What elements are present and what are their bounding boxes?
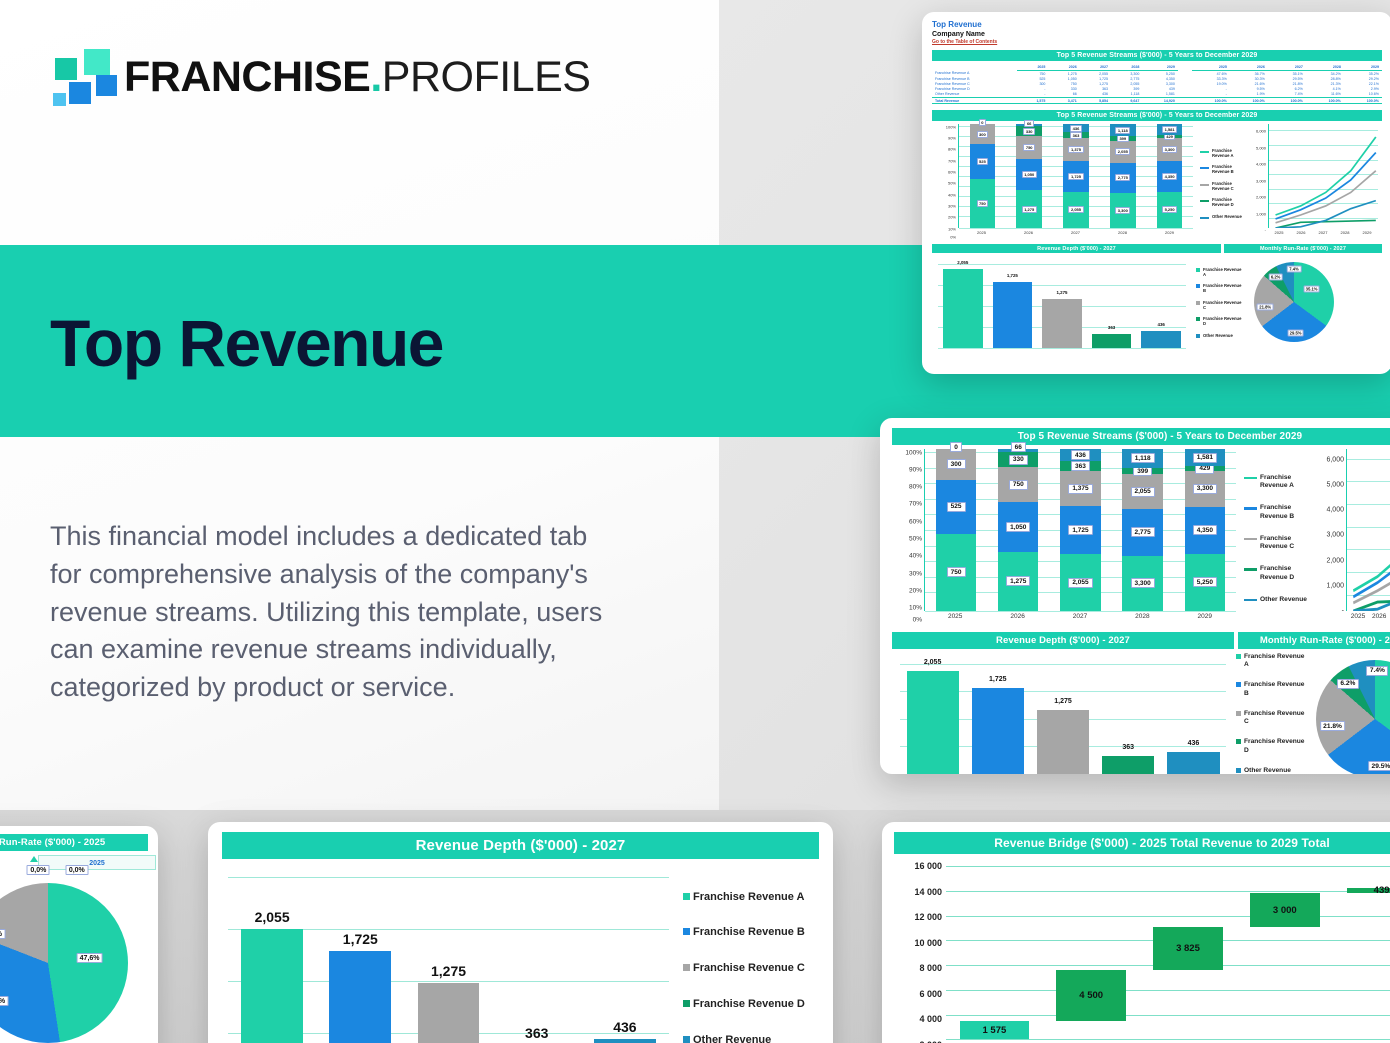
year-tab-label[interactable]: 2025 [39, 856, 155, 871]
depth-title-banner-mid: Revenue Depth ($'000) - 2027 [892, 632, 1234, 649]
waterfall-y-axis: 16 000 14 000 12 000 10 000 8 000 6 000 … [894, 862, 946, 1043]
stacked-chart-legend-mid: Franchise Revenue A Franchise Revenue B … [1244, 469, 1314, 609]
table-title-banner: Top 5 Revenue Streams ($'000) - 5 Years … [932, 50, 1382, 61]
stacked-chart-title-banner: Top 5 Revenue Streams ($'000) - 5 Years … [932, 110, 1382, 121]
legend-swatch-c [1244, 538, 1257, 541]
legend-swatch-other [1200, 217, 1209, 219]
stack-2028: 3,300 2,775 2,055 399 1,118 [1122, 449, 1162, 611]
waterfall-col-c: 3 000 [1236, 862, 1333, 1043]
legend-label-b: Franchise Revenue B [1212, 164, 1248, 175]
screenshot-card-charts: Top 5 Revenue Streams ($'000) - 5 Years … [880, 418, 1390, 774]
revenue-depth-legend-mid: Franchise Revenue A Franchise Revenue B … [1236, 654, 1308, 774]
line-chart-y-axis: 6,0005,0004,000 3,0002,0001,000 - [1248, 124, 1268, 242]
legend-swatch-other [1196, 334, 1200, 338]
runrate-title-banner: Monthly Run-Rate ($'000) - 2027 [1224, 244, 1382, 253]
legend-label-other: Other Revenue [1212, 214, 1242, 219]
legend-swatch-a [1244, 477, 1257, 480]
line-chart-x-axis: 20252026 20272028 2029 [1268, 230, 1378, 242]
brand-logo: FRANCHISE.PROFILES [48, 46, 590, 108]
legend-swatch-b [683, 928, 690, 935]
legend-swatch-b [1244, 507, 1257, 510]
stack-2025: 750 525 300 0 [936, 449, 976, 611]
revenue-table-body: Franchise Revenue A 750 1,275 2,055 3,30… [932, 71, 1382, 104]
screenshot-card-revenue-depth: Revenue Depth ($'000) - 2027 2,055 1,725… [208, 822, 833, 1043]
legend-swatch-a [683, 893, 690, 900]
screenshot-card-runrate-pie: y Run-Rate ($'000) - 2025 2025 47,6% 33,… [0, 826, 158, 1043]
revenue-depth-bar-chart-mid: 2,055 1,725 1,275 363 436 [900, 654, 1230, 774]
revenue-depth-legend-big: Franchise Revenue A Franchise Revenue B … [683, 869, 813, 1043]
revenue-depth-bar-chart-big: 2,055 1,725 1,275 363 436 [228, 869, 673, 1043]
legend-swatch-a [1236, 654, 1241, 659]
waterfall-col-b: 3 825 [1140, 862, 1237, 1043]
squares-logo-icon [48, 46, 110, 108]
brand-name-bold: FRANCHISE [124, 53, 370, 101]
sheet-title: Top Revenue [932, 20, 1382, 30]
waterfall-col-base: 1 575 [946, 862, 1043, 1043]
stack-2028: 3,300 2,775 2,055 399 1,118 [1110, 124, 1136, 228]
legend-swatch-d [1196, 317, 1200, 321]
table-row-total: Total Revenue 1,575 3,471 5,854 9,647 14… [932, 98, 1382, 104]
stacked-chart-x-axis-mid: 2025 2026 2027 2028 2029 [924, 613, 1236, 629]
depth-title-banner: Revenue Depth ($'000) - 2027 [932, 244, 1221, 253]
legend-swatch-other [1244, 599, 1257, 602]
runrate-pie-chart: 35.1% 29.5% 21.8% 6.2% 7.4% [1254, 262, 1334, 342]
legend-swatch-other [1236, 768, 1241, 773]
legend-swatch-c [683, 964, 690, 971]
waterfall-plot: 1 575 4 500 3 825 3 000 439 [946, 862, 1390, 1043]
stacked-chart-legend: Franchise Revenue A Franchise Revenue B … [1200, 130, 1248, 236]
stacked-bar-chart: 100%90%80% 70%60%50% 40%30%20% 10%0% 750 [932, 124, 1197, 242]
line-chart: 6,0005,0004,000 3,0002,0001,000 - [1248, 124, 1382, 242]
stack-2026: 1,275 1,050 750 330 66 [998, 449, 1038, 611]
revenue-table: 2025 2026 2027 2028 2029 2025 2026 2027 … [932, 64, 1382, 104]
legend-swatch-a [1196, 268, 1200, 272]
line-chart-mid: 6,0005,000 4,0003,000 2,0001,000 - [1316, 449, 1390, 629]
legend-swatch-d [1244, 568, 1257, 571]
legend-label-d: Franchise Revenue D [1212, 197, 1248, 208]
legend-swatch-a [1200, 151, 1209, 153]
revenue-bridge-title-banner: Revenue Bridge ($'000) - 2025 Total Reve… [894, 832, 1390, 854]
screenshot-card-revenue-bridge: Revenue Bridge ($'000) - 2025 Total Reve… [882, 822, 1390, 1043]
stacked-chart-x-axis: 20252026 20272028 2029 [958, 230, 1193, 242]
legend-swatch-d [683, 1000, 690, 1007]
marker-icon [30, 856, 38, 862]
brand-name-light: PROFILES [382, 53, 591, 101]
runrate-2025-pie: 47,6% 33,3% 19,0% 0,0% 0,0% [0, 883, 128, 1043]
stacked-chart-title-banner-mid: Top 5 Revenue Streams ($'000) - 5 Years … [892, 428, 1390, 445]
stacked-bar-chart-mid: 100%90%80% 70%60%50% 40%30%20% 10%0% 750 [892, 449, 1240, 629]
brand-wordmark: FRANCHISE.PROFILES [124, 56, 590, 99]
toc-link[interactable]: Go to the Table of Contents [932, 39, 1382, 45]
legend-label-c: Franchise Revenue C [1212, 181, 1248, 192]
waterfall-col-d: 439 [1333, 862, 1390, 1043]
legend-swatch-b [1200, 167, 1209, 169]
legend-swatch-c [1200, 184, 1209, 186]
line-chart-x-axis-mid: 20252026 20272028 2029 [1346, 613, 1390, 629]
revenue-depth-title-banner: Revenue Depth ($'000) - 2027 [222, 832, 819, 859]
stack-2029: 5,250 4,350 3,300 429 1,581 [1157, 124, 1183, 228]
legend-swatch-d [1200, 200, 1209, 202]
stack-2027: 2,055 1,725 1,375 363 436 [1063, 124, 1089, 228]
page-title: Top Revenue [50, 305, 443, 381]
legend-label-a: Franchise Revenue A [1212, 148, 1248, 159]
line-chart-y-axis-mid: 6,0005,000 4,0003,000 2,0001,000 - [1316, 449, 1346, 629]
legend-swatch-c [1236, 711, 1241, 716]
company-name: Company Name [932, 30, 1382, 39]
legend-swatch-b [1196, 284, 1200, 288]
runrate-title-banner-mid: Monthly Run-Rate ($'000) - 2027 [1238, 632, 1390, 649]
hero-description: This financial model includes a dedicate… [50, 518, 610, 707]
runrate-pie-chart-mid: 35.1% 29.5% 21.8% 6.2% 7.4% [1316, 660, 1390, 774]
stack-2026: 1,275 1,050 750 330 66 [1016, 124, 1042, 228]
stack-2025: 750 525 300 0 [970, 124, 996, 228]
revenue-depth-bar-chart: 2,055 1,725 1,275 363 436 [938, 256, 1190, 348]
legend-swatch-other [683, 1036, 690, 1043]
stack-2029: 5,250 4,350 3,300 429 1,581 [1185, 449, 1225, 611]
stacked-chart-y-axis: 100%90%80% 70%60%50% 40%30%20% 10%0% [932, 124, 958, 242]
legend-swatch-d [1236, 739, 1241, 744]
runrate-2025-title-banner: y Run-Rate ($'000) - 2025 [0, 834, 148, 851]
screenshot-card-dashboard: Top Revenue Company Name Go to the Table… [922, 12, 1390, 374]
stack-2027: 2,055 1,725 1,375 363 436 [1060, 449, 1100, 611]
slide-canvas: FRANCHISE.PROFILES Top Revenue This fina… [0, 0, 1390, 1043]
brand-name-dot: . [370, 53, 381, 101]
legend-swatch-b [1236, 682, 1241, 687]
waterfall-col-a: 4 500 [1043, 862, 1140, 1043]
revenue-depth-legend: Franchise Revenue A Franchise Revenue B … [1196, 256, 1244, 348]
stacked-chart-y-axis-mid: 100%90%80% 70%60%50% 40%30%20% 10%0% [892, 449, 924, 629]
legend-swatch-c [1196, 301, 1200, 305]
